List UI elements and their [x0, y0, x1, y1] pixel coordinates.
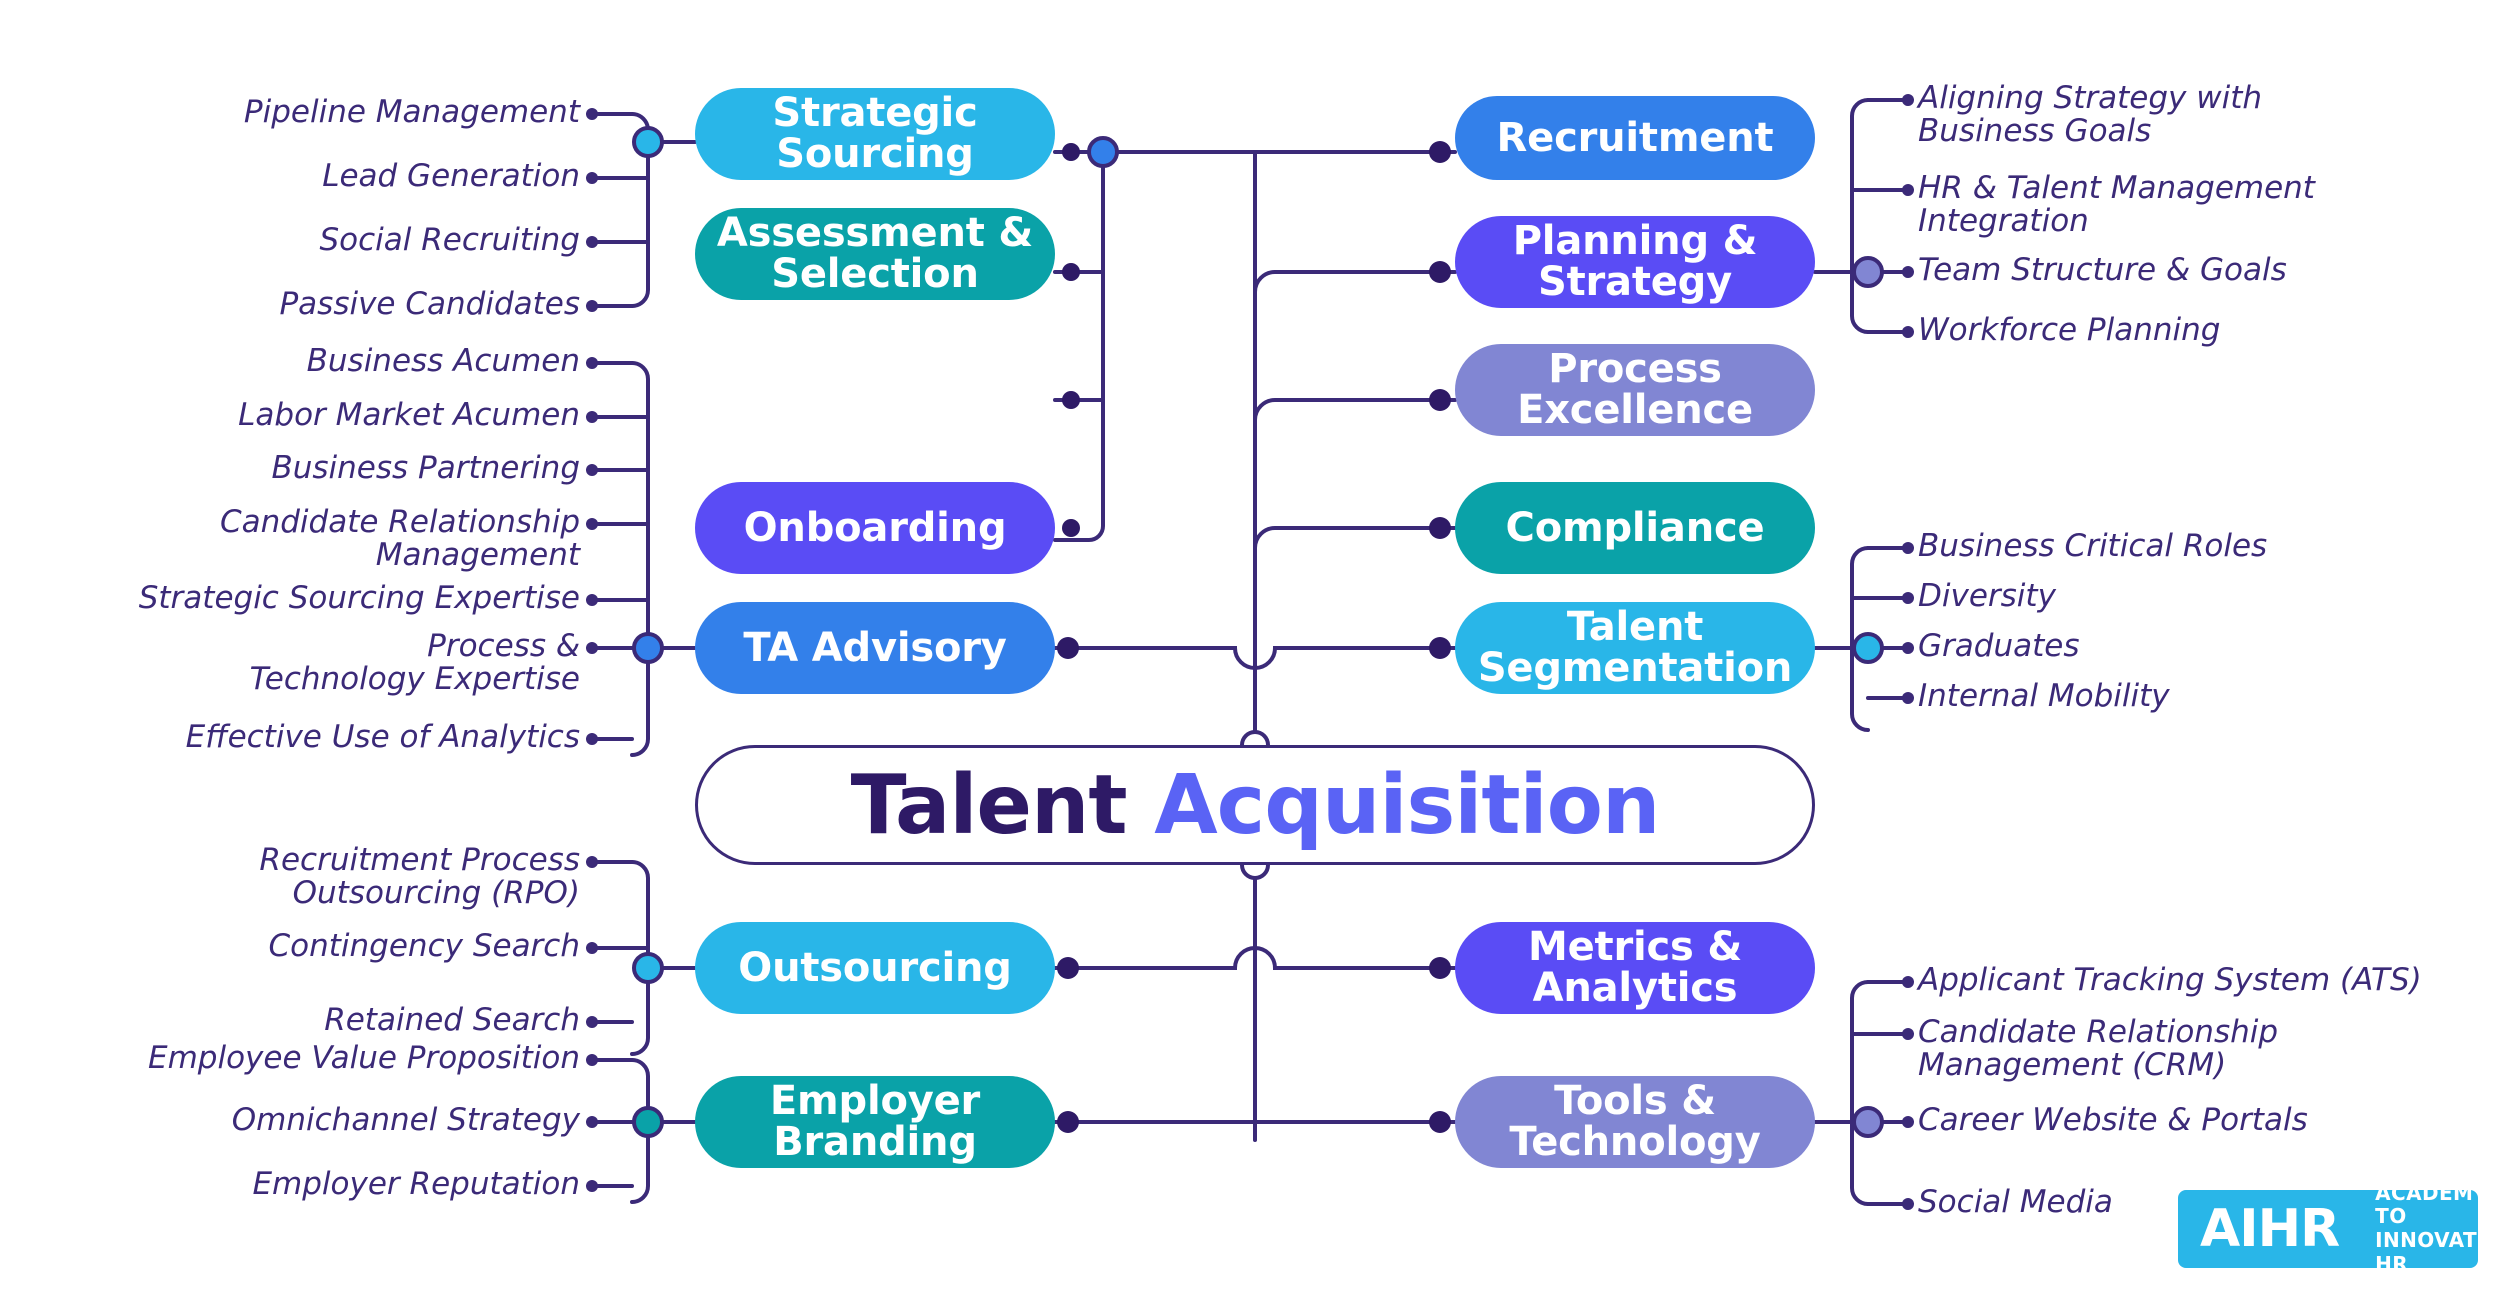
node-label: Tools & Technology	[1455, 1081, 1815, 1163]
node-label: Outsourcing	[724, 948, 1025, 989]
leaf-aligning-strategy-business-goals: Aligning Strategy with Business Goals	[1918, 82, 2478, 148]
node-label: Hiring	[793, 380, 958, 421]
hub-dot-advisory	[634, 634, 662, 662]
node-tools-technology[interactable]: Tools & Technology	[1455, 1076, 1815, 1168]
spine-to-process	[1255, 400, 1455, 420]
leaf-process-technology-expertise: Process & Technology Expertise	[100, 630, 580, 696]
node-label: Planning & Strategy	[1455, 221, 1815, 303]
node-label: Metrics & Analytics	[1455, 927, 1815, 1009]
leaf-workforce-planning: Workforce Planning	[1918, 314, 2478, 347]
leaf-omnichannel-strategy: Omnichannel Strategy	[100, 1104, 580, 1137]
node-connector-dots	[1057, 141, 1451, 1133]
left-cluster-bracket	[1055, 152, 1103, 540]
leaf-business-critical-roles: Business Critical Roles	[1918, 530, 2478, 563]
leaf-bracket-branding	[632, 1060, 648, 1202]
node-label: Talent Segmentation	[1455, 607, 1815, 689]
leaf-bracket-planning	[1852, 100, 1868, 332]
leaf-internal-mobility: Internal Mobility	[1918, 680, 2478, 713]
logo-tagline-line-1: ACADEMY TO	[2375, 1181, 2488, 1229]
node-process-excellence[interactable]: Process Excellence	[1455, 344, 1815, 436]
node-metrics-analytics[interactable]: Metrics & Analytics	[1455, 922, 1815, 1014]
node-planning-strategy[interactable]: Planning & Strategy	[1455, 216, 1815, 308]
leaf-employer-reputation: Employer Reputation	[100, 1168, 580, 1201]
spine-to-metrics	[1255, 948, 1455, 968]
leaf-pipeline-management: Pipeline Management	[130, 96, 580, 129]
hub-dot-sourcing	[634, 128, 662, 156]
node-strategic-sourcing[interactable]: Strategic Sourcing	[695, 88, 1055, 180]
leaf-effective-use-of-analytics: Effective Use of Analytics	[100, 721, 580, 754]
diagram-canvas: Strategic Sourcing Assessment & Selectio…	[0, 0, 2501, 1307]
leaf-bracket-sourcing	[632, 114, 648, 306]
title-word-two: Acquisition	[1154, 758, 1659, 853]
node-label: Assessment & Selection	[695, 213, 1055, 295]
node-assessment-selection[interactable]: Assessment & Selection	[695, 208, 1055, 300]
leaf-retained-search: Retained Search	[130, 1004, 580, 1037]
planning-elbow	[1255, 272, 1275, 292]
leaf-team-structure-goals: Team Structure & Goals	[1918, 254, 2478, 287]
leaf-recruitment-process-outsourcing: Recruitment Process Outsourcing (RPO)	[130, 844, 580, 910]
hub-dot-tools	[1854, 1108, 1882, 1136]
advisory-to-spine	[1055, 648, 1255, 668]
leaf-diversity: Diversity	[1918, 580, 2478, 613]
center-talent-acquisition-capsule[interactable]: Talent Acquisition	[695, 745, 1815, 865]
node-recruitment[interactable]: Recruitment	[1455, 96, 1815, 180]
node-label: Recruitment	[1483, 118, 1788, 159]
hub-dot-outsourcing	[634, 954, 662, 982]
leaf-candidate-relationship-management-crm: Candidate Relationship Management (CRM)	[1918, 1016, 2498, 1082]
leaf-bracket-segmentation	[1852, 548, 1868, 730]
node-employer-branding[interactable]: Employer Branding	[695, 1076, 1055, 1168]
hub-dot-left-cluster	[1089, 138, 1117, 166]
node-talent-segmentation[interactable]: Talent Segmentation	[1455, 602, 1815, 694]
spine-to-compliance	[1255, 528, 1455, 548]
logo-tagline-line-2: INNOVATE HR	[2375, 1228, 2491, 1276]
node-label: Compliance	[1492, 508, 1779, 549]
node-compliance[interactable]: Compliance	[1455, 482, 1815, 574]
node-onboarding[interactable]: Onboarding	[695, 482, 1055, 574]
hub-dot-segmentation	[1854, 634, 1882, 662]
logo-mark: AIHR	[2200, 1199, 2339, 1259]
node-ta-advisory[interactable]: TA Advisory	[695, 602, 1055, 694]
leaf-labor-market-acumen: Labor Market Acumen	[100, 399, 580, 432]
node-label: TA Advisory	[729, 628, 1020, 669]
leaf-employee-value-proposition: Employee Value Proposition	[100, 1042, 580, 1075]
node-label: Onboarding	[730, 508, 1021, 549]
leaf-business-acumen: Business Acumen	[100, 345, 580, 378]
leaf-business-partnering: Business Partnering	[100, 452, 580, 485]
leaf-passive-candidates: Passive Candidates	[130, 288, 580, 321]
logo-tagline: ACADEMY TO INNOVATE HR	[2375, 1182, 2491, 1276]
leaf-strategic-sourcing-expertise: Strategic Sourcing Expertise	[100, 582, 580, 615]
leaf-graduates: Graduates	[1918, 630, 2478, 663]
leaf-lead-generation: Lead Generation	[130, 160, 580, 193]
node-label: Process Excellence	[1455, 349, 1815, 431]
title-word-one: Talent	[851, 758, 1127, 853]
leaf-bracket-outsourcing	[632, 862, 648, 1054]
hub-dot-planning	[1854, 258, 1882, 286]
leaf-hr-talent-management-integration: HR & Talent Management Integration	[1918, 172, 2478, 238]
outsourcing-to-spine	[1055, 948, 1255, 968]
aihr-logo[interactable]: AIHR ACADEMY TO INNOVATE HR	[2178, 1190, 2478, 1268]
leaf-social-recruiting: Social Recruiting	[130, 224, 580, 257]
spine-to-segmentation	[1255, 648, 1455, 668]
node-label: Strategic Sourcing	[695, 93, 1055, 175]
node-outsourcing[interactable]: Outsourcing	[695, 922, 1055, 1014]
node-hiring[interactable]: Hiring	[695, 354, 1055, 446]
leaf-applicant-tracking-system: Applicant Tracking System (ATS)	[1918, 964, 2498, 997]
leaf-career-website-portals: Career Website & Portals	[1918, 1104, 2498, 1137]
leaf-bracket-tools	[1852, 982, 1868, 1204]
leaf-bracket-advisory	[632, 363, 648, 755]
planning-elbow-hidden	[1255, 252, 1275, 272]
hub-dot-branding	[634, 1108, 662, 1136]
leaf-candidate-relationship-management: Candidate Relationship Management	[100, 506, 580, 572]
page-title: Talent Acquisition	[851, 758, 1660, 853]
node-label: Employer Branding	[695, 1081, 1055, 1163]
leaf-contingency-search: Contingency Search	[130, 930, 580, 963]
